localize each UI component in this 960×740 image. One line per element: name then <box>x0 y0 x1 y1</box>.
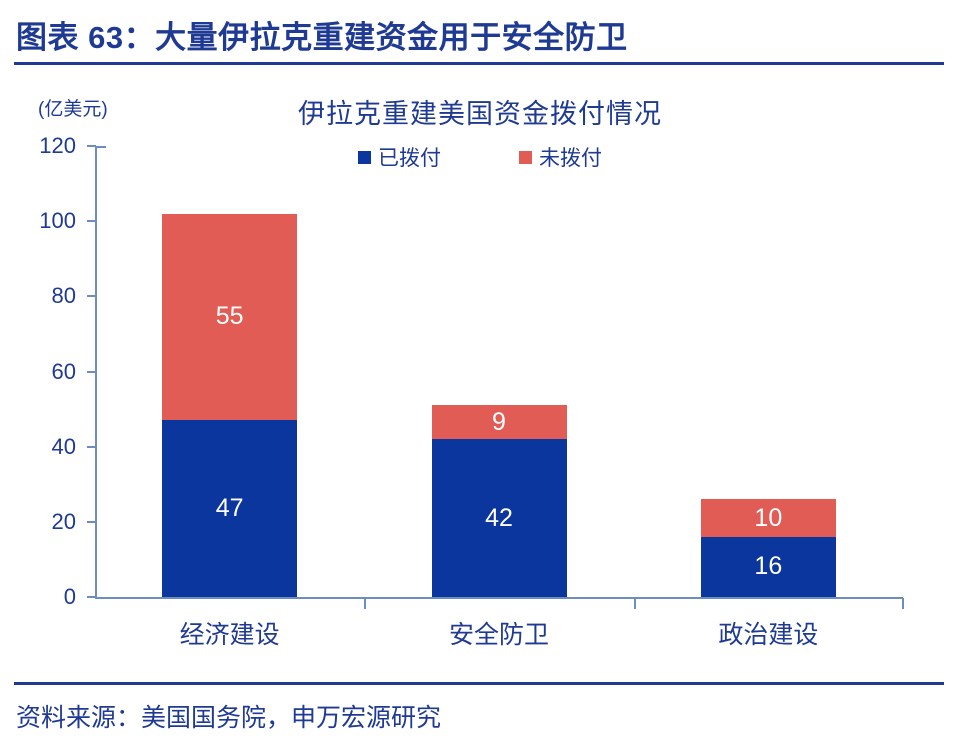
x-axis-category-label: 经济建设 <box>130 615 330 651</box>
y-axis-tick <box>87 596 96 598</box>
x-axis-category-label: 政治建设 <box>668 615 868 651</box>
bar-segment-已拨付[interactable]: 16 <box>701 537 836 597</box>
bar-value-label: 55 <box>216 302 244 331</box>
y-axis-tick-label: 40 <box>6 434 76 460</box>
bar-segment-未拨付[interactable]: 55 <box>162 214 297 421</box>
x-axis-tick <box>634 598 636 609</box>
bar-segment-未拨付[interactable]: 9 <box>432 405 567 439</box>
chart-container: (亿美元) 伊拉克重建美国资金拨付情况 已拨付 未拨付 020406080100… <box>0 70 960 680</box>
y-axis-tick <box>87 521 96 523</box>
page-title: 图表 63：大量伊拉克重建资金用于安全防卫 <box>16 12 628 57</box>
y-axis-tick <box>87 446 96 448</box>
figure-header: 图表 63：大量伊拉克重建资金用于安全防卫 <box>0 0 960 70</box>
y-axis-top-cap <box>95 146 106 148</box>
y-axis-tick <box>87 371 96 373</box>
y-axis-tick-label: 20 <box>6 509 76 535</box>
x-axis-end-cap <box>902 598 904 609</box>
x-axis-line <box>95 597 903 599</box>
footer-divider <box>14 682 944 685</box>
y-axis-tick-label: 100 <box>6 208 76 234</box>
y-axis-tick-label: 80 <box>6 283 76 309</box>
header-divider <box>14 62 944 65</box>
bar-segment-已拨付[interactable]: 47 <box>162 420 297 597</box>
bar-value-label: 47 <box>216 494 244 523</box>
plot-area: 0204060801001204755经济建设429安全防卫1610政治建设 <box>0 70 960 680</box>
x-axis-category-label: 安全防卫 <box>399 615 599 651</box>
bar-政治建设[interactable]: 1610 <box>701 499 836 597</box>
y-axis-tick-label: 120 <box>6 133 76 159</box>
y-axis-tick <box>87 220 96 222</box>
y-axis-tick-label: 0 <box>6 584 76 610</box>
source-note: 资料来源：美国国务院，申万宏源研究 <box>16 698 441 734</box>
bar-value-label: 9 <box>492 408 506 437</box>
x-axis-tick <box>364 598 366 609</box>
y-axis-tick-label: 60 <box>6 359 76 385</box>
y-axis-tick <box>87 295 96 297</box>
bar-value-label: 10 <box>754 504 782 533</box>
bar-value-label: 16 <box>754 552 782 581</box>
bar-segment-未拨付[interactable]: 10 <box>701 499 836 537</box>
bar-segment-已拨付[interactable]: 42 <box>432 439 567 597</box>
bar-value-label: 42 <box>485 504 513 533</box>
bar-安全防卫[interactable]: 429 <box>432 405 567 597</box>
bar-经济建设[interactable]: 4755 <box>162 214 297 597</box>
